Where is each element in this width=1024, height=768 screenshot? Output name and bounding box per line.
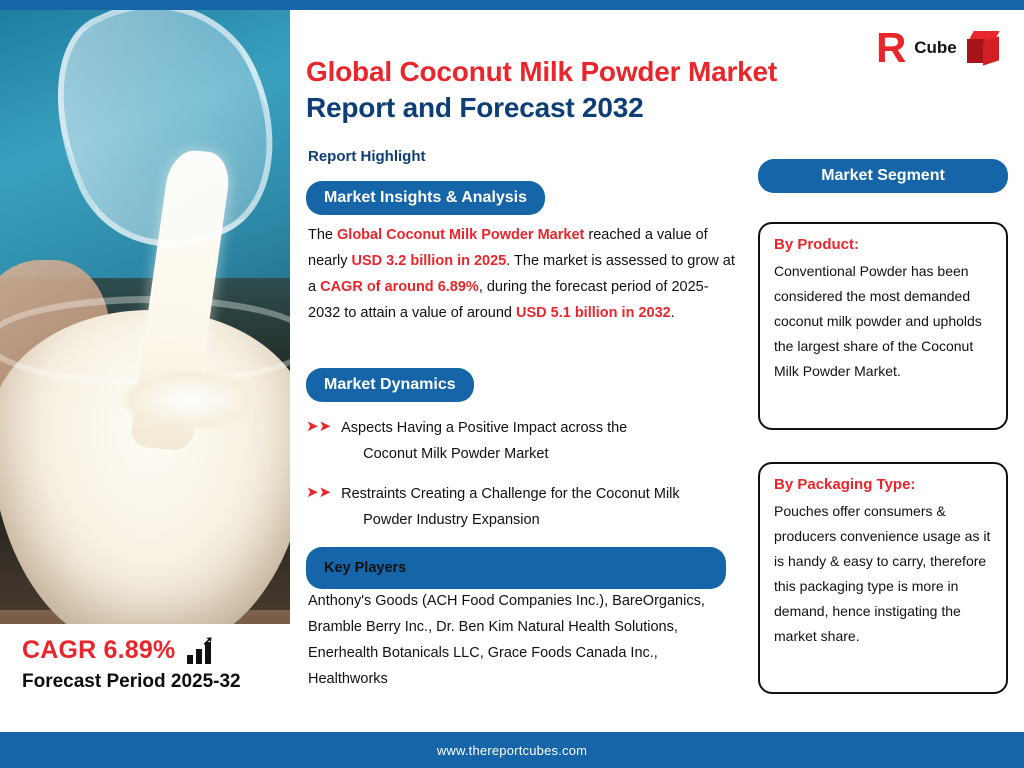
dynamics-item-text: Aspects Having a Positive Impact across … (339, 415, 627, 467)
section-heading-players: Key Players (306, 547, 726, 589)
double-chevron-right-icon: ➤➤ (306, 415, 331, 467)
page-title: Global Coconut Milk Powder Market Report… (306, 56, 906, 124)
insights-bold-value-2025: USD 3.2 billion in 2025 (352, 253, 507, 269)
dynamics-item-line1: Restraints Creating a Challenge for the … (341, 486, 680, 502)
insights-bold-cagr: CAGR of around 6.89% (320, 279, 479, 295)
list-item: ➤➤ Restraints Creating a Challenge for t… (306, 481, 748, 533)
section-heading-dynamics: Market Dynamics (306, 368, 474, 402)
top-accent-bar (0, 0, 1024, 10)
list-item: ➤➤ Aspects Having a Positive Impact acro… (306, 415, 748, 467)
segment-card-body: Pouches offer consumers & producers conv… (774, 499, 992, 649)
segment-card-product: By Product: Conventional Powder has been… (758, 222, 1008, 430)
dynamics-list: ➤➤ Aspects Having a Positive Impact acro… (306, 415, 748, 547)
section-heading-insights: Market Insights & Analysis (306, 181, 545, 215)
footer-url[interactable]: www.thereportcubes.com (437, 743, 587, 758)
segment-card-heading: By Packaging Type: (774, 476, 992, 493)
dynamics-item-text: Restraints Creating a Challenge for the … (339, 481, 680, 533)
segment-card-body: Conventional Powder has been considered … (774, 259, 992, 384)
cagr-value: CAGR 6.89% (22, 636, 175, 665)
section-heading-segment: Market Segment (758, 159, 1008, 193)
footer-bar: www.thereportcubes.com (0, 732, 1024, 768)
photo-milk-splash (120, 370, 260, 430)
key-players-text: Anthony's Goods (ACH Food Companies Inc.… (308, 588, 728, 692)
insights-text-5: . (671, 305, 675, 321)
insights-paragraph: The Global Coconut Milk Powder Market re… (308, 222, 736, 326)
page-title-line1: Global Coconut Milk Powder Market (306, 56, 906, 88)
forecast-period: Forecast Period 2025-32 (22, 671, 290, 693)
double-chevron-right-icon: ➤➤ (306, 481, 331, 533)
insights-bold-market: Global Coconut Milk Powder Market (337, 227, 584, 243)
red-cube-icon (967, 31, 1001, 65)
dynamics-item-line1: Aspects Having a Positive Impact across … (341, 420, 627, 436)
page-title-line2: Report and Forecast 2032 (306, 92, 906, 124)
cagr-value-row: CAGR 6.89% ➚ (22, 636, 290, 665)
logo-word: Cube (914, 38, 957, 58)
dynamics-item-line2: Coconut Milk Powder Market (341, 441, 627, 467)
report-highlight-label: Report Highlight (308, 148, 425, 165)
insights-bold-value-2032: USD 5.1 billion in 2032 (516, 305, 671, 321)
segment-card-packaging: By Packaging Type: Pouches offer consume… (758, 462, 1008, 694)
segment-card-heading: By Product: (774, 236, 992, 253)
dynamics-item-line2: Powder Industry Expansion (341, 507, 680, 533)
bar-chart-growth-icon: ➚ (187, 638, 211, 664)
report-infographic-page: CAGR 6.89% ➚ Forecast Period 2025-32 Я C… (0, 0, 1024, 768)
cagr-block: CAGR 6.89% ➚ Forecast Period 2025-32 (0, 624, 290, 732)
insights-text-1: The (308, 227, 337, 243)
